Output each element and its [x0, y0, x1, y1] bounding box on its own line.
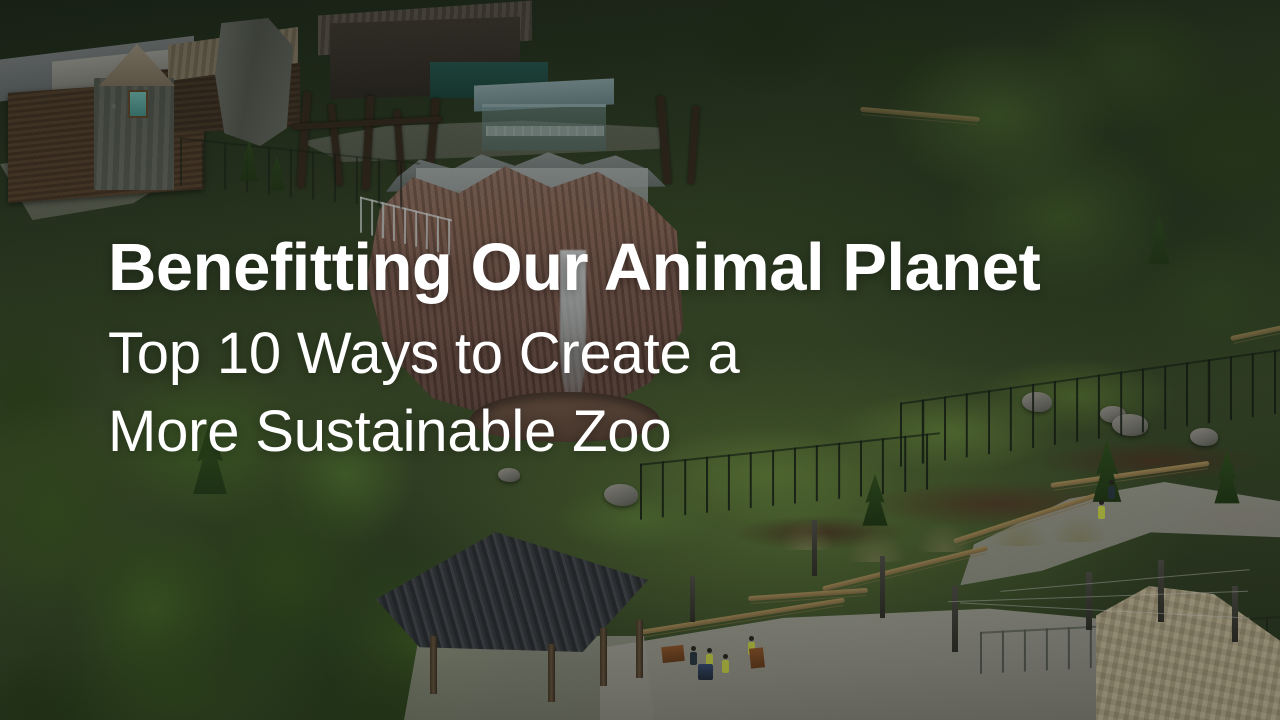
background-photo: [0, 0, 1280, 720]
photo-grain: [0, 0, 1280, 720]
slide-canvas: Benefitting Our Animal Planet Top 10 Way…: [0, 0, 1280, 720]
